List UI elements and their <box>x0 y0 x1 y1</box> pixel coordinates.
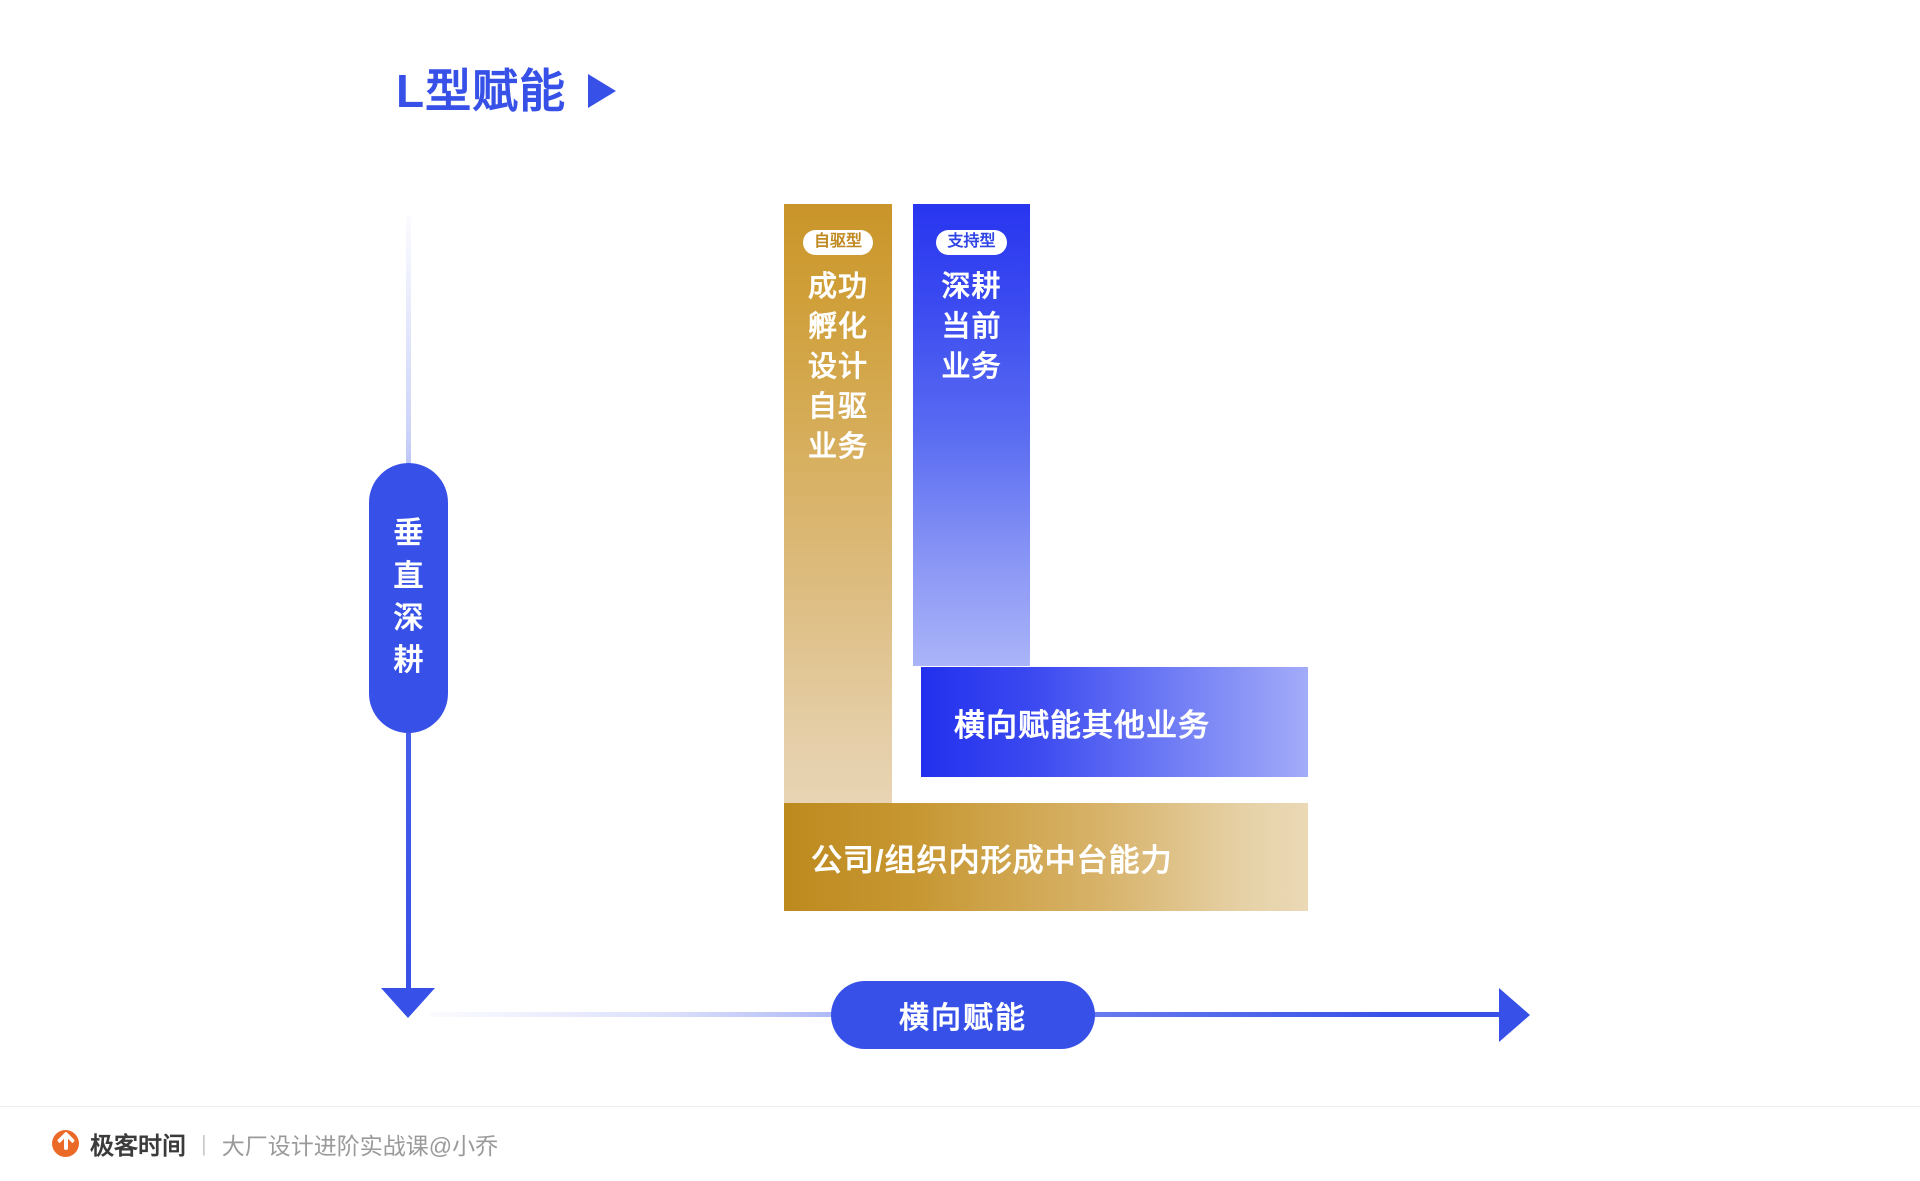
course-name: 大厂设计进阶实战课@小乔 <box>222 1127 498 1161</box>
brand-name: 极客时间 <box>90 1126 186 1161</box>
bar-blue-label: 横向赋能其他业务 <box>954 700 1210 745</box>
vertical-axis-label-char-1: 垂 <box>394 515 424 553</box>
footer: 极客时间 | 大厂设计进阶实战课@小乔 <box>52 1126 498 1161</box>
footer-separator: | <box>201 1131 207 1157</box>
badge-supportive: 支持型 <box>936 230 1006 255</box>
column-blue-supportive: 支持型 深耕 当前 业务 <box>913 204 1030 666</box>
column-blue-line-2: 当前 <box>941 307 1001 347</box>
vertical-axis-label-char-3: 深 <box>394 600 424 638</box>
triangle-down-icon <box>381 988 435 1018</box>
page-title: L型赋能 <box>396 68 566 114</box>
column-gold-line-3: 设计 <box>808 347 868 387</box>
column-blue-line-3: 业务 <box>941 347 1001 387</box>
column-gold-text: 成功 孵化 设计 自驱 业务 <box>808 267 868 467</box>
column-blue-line-1: 深耕 <box>941 267 1001 307</box>
horizontal-axis-label-pill: 横向赋能 <box>831 981 1095 1049</box>
column-gold-line-1: 成功 <box>808 267 868 307</box>
bar-gold-label: 公司/组织内形成中台能力 <box>811 835 1173 880</box>
column-gold-line-5: 业务 <box>808 427 868 467</box>
vertical-axis-label-char-4: 耕 <box>394 642 424 680</box>
column-blue-text: 深耕 当前 业务 <box>941 267 1001 387</box>
column-gold-line-4: 自驱 <box>808 387 868 427</box>
badge-self-driven: 自驱型 <box>803 230 873 255</box>
slide-title-row: L型赋能 <box>396 68 616 114</box>
horizontal-axis-label: 横向赋能 <box>899 993 1027 1037</box>
bar-middle-platform-capability: 公司/组织内形成中台能力 <box>784 803 1308 911</box>
column-gold-line-2: 孵化 <box>808 307 868 347</box>
slide-canvas: L型赋能 垂 直 深 耕 横向赋能 自驱型 成功 孵化 设计 自驱 业务 支持型… <box>0 0 1920 1181</box>
triangle-right-icon <box>1499 988 1530 1042</box>
play-triangle-right-icon <box>588 74 616 108</box>
bar-horizontal-empowerment: 横向赋能其他业务 <box>921 667 1308 777</box>
footer-divider <box>0 1106 1920 1107</box>
vertical-axis-label-char-2: 直 <box>394 558 424 596</box>
geekbang-circle-logo-icon <box>52 1130 79 1157</box>
vertical-axis-label-pill: 垂 直 深 耕 <box>369 463 448 733</box>
